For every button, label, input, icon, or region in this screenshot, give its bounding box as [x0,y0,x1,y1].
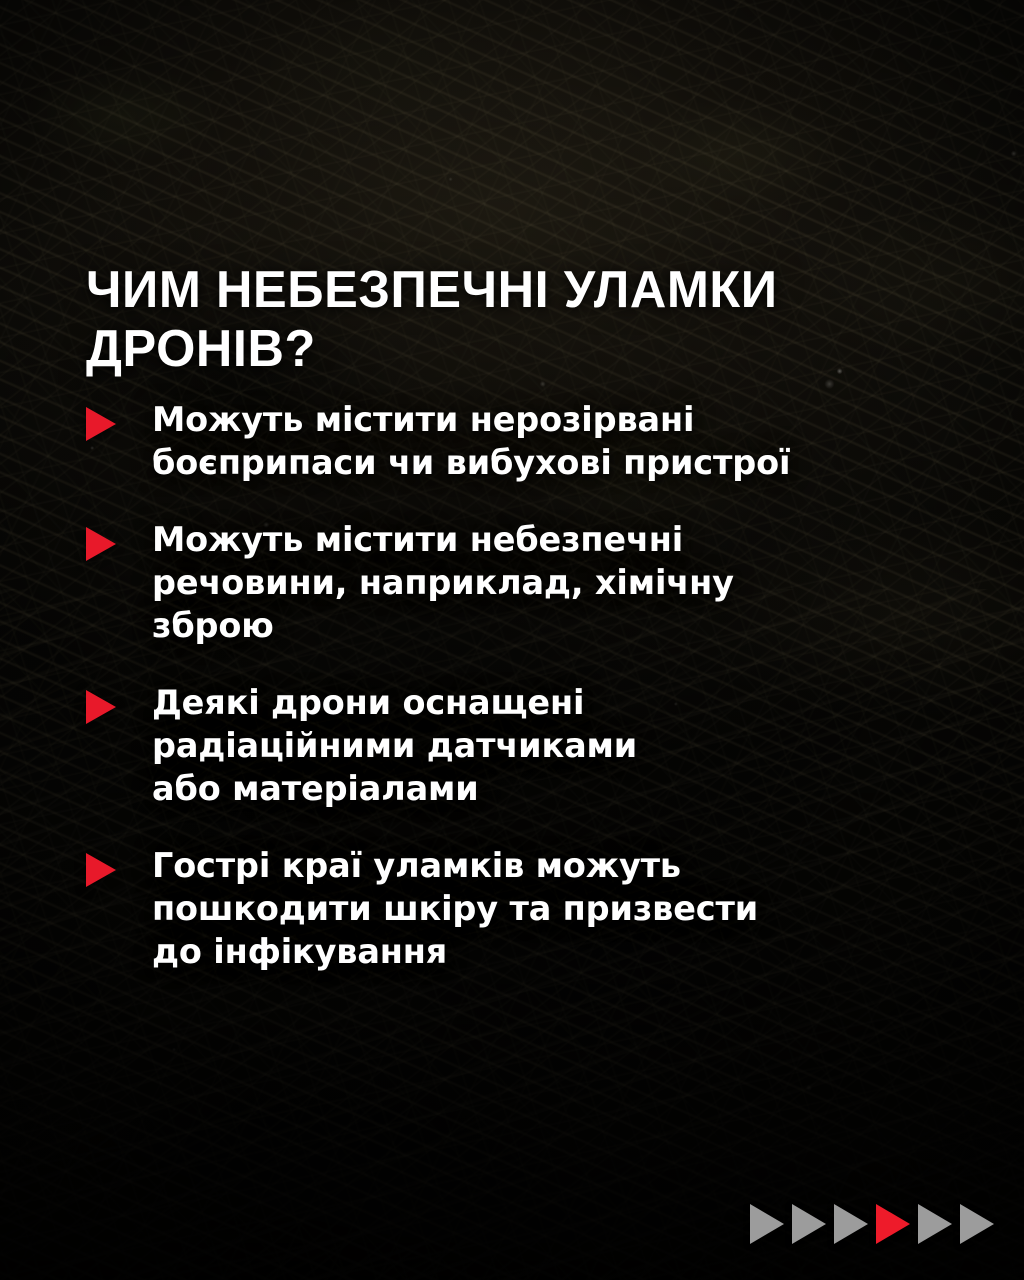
bullet-item-1-text: Можуть містити нерозірвані боєприпаси чи… [152,398,966,484]
page-indicator-triangle-6[interactable] [960,1204,994,1244]
bullet-item-4-text: Гострі краї уламків можуть пошкодити шкі… [152,844,966,973]
page-indicator-triangle-3[interactable] [834,1204,868,1244]
triangle-right-icon [86,690,116,724]
slide-content: ЧИМ НЕБЕЗПЕЧНІ УЛАМКИ ДРОНІВ? Можуть міс… [0,0,1024,1280]
bullet-item-2-text: Можуть містити небезпечні речовини, напр… [152,518,966,647]
bullet-item-4: Гострі краї уламків можуть пошкодити шкі… [86,844,966,973]
page-indicator-triangle-2[interactable] [792,1204,826,1244]
slide-title: ЧИМ НЕБЕЗПЕЧНІ УЛАМКИ ДРОНІВ? [86,261,920,379]
slide-poster: ЧИМ НЕБЕЗПЕЧНІ УЛАМКИ ДРОНІВ? Можуть міс… [0,0,1024,1280]
page-indicator[interactable] [750,1204,994,1244]
triangle-right-icon [86,407,116,441]
bullet-item-3: Деякі дрони оснащені радіаційними датчик… [86,681,966,810]
triangle-right-icon [86,527,116,561]
page-indicator-triangle-4-active[interactable] [876,1204,910,1244]
bullet-item-3-text: Деякі дрони оснащені радіаційними датчик… [152,681,966,810]
page-indicator-triangle-5[interactable] [918,1204,952,1244]
bullet-list: Можуть містити нерозірвані боєприпаси чи… [86,398,966,974]
triangle-right-icon [86,853,116,887]
bullet-item-1: Можуть містити нерозірвані боєприпаси чи… [86,398,966,484]
bullet-item-2: Можуть містити небезпечні речовини, напр… [86,518,966,647]
page-indicator-triangle-1[interactable] [750,1204,784,1244]
